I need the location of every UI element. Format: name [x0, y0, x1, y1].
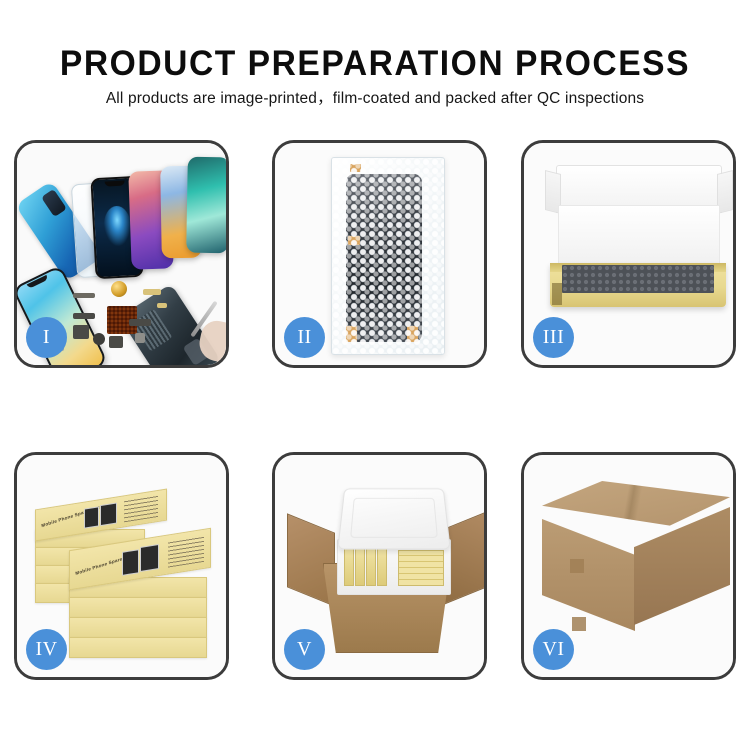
product-preparation-infographic: PRODUCT PREPARATION PROCESS All products…: [0, 0, 750, 750]
step-badge: IV: [26, 629, 67, 670]
process-step-grid: I II: [0, 0, 750, 750]
vibration-motor-part: [111, 281, 127, 297]
process-step-5: V: [272, 452, 487, 680]
carton-label-patch-bottom: [572, 617, 586, 631]
box-screen-image-a: [84, 506, 99, 528]
step-badge: V: [284, 629, 325, 670]
camera-module-part: [73, 325, 89, 339]
speaker-part: [73, 293, 95, 298]
process-step-3: III: [521, 140, 736, 368]
step-badge: III: [533, 317, 574, 358]
bubble-texture-overlay: [332, 158, 444, 354]
phone-teal: [186, 157, 226, 254]
process-step-2: II: [272, 140, 487, 368]
box-spec-lines: [168, 536, 204, 568]
bubble-wrap-bag: [331, 157, 445, 355]
bracket-part: [109, 336, 123, 348]
step-badge: VI: [533, 629, 574, 670]
box-spec-lines: [124, 495, 158, 522]
box-screen-image-b: [140, 544, 159, 572]
box-screen-image-a: [122, 549, 139, 576]
small-connector-part: [157, 303, 167, 308]
process-step-1: I: [14, 140, 229, 368]
flex-connector-part: [143, 289, 161, 295]
carton-left-face: [542, 519, 635, 631]
box-screen-image-b: [100, 502, 117, 526]
flex-cable-part: [73, 313, 95, 319]
carton-right-face: [634, 507, 730, 625]
white-foam-sheet: [558, 205, 720, 269]
carton-label-patch-top: [570, 559, 584, 573]
step-badge: I: [26, 317, 67, 358]
sim-tray-part: [135, 333, 145, 343]
step-badge: II: [284, 317, 325, 358]
grey-bubble-sheet: [562, 265, 714, 293]
packed-retail-boxes: [398, 550, 444, 586]
process-step-4: Mobile Phone Spare Parts Mobile Phone Sp…: [14, 452, 229, 680]
process-step-6: VI: [521, 452, 736, 680]
styrofoam-lid: [337, 488, 450, 549]
ribbon-cable-part: [129, 319, 151, 326]
earpiece-part: [93, 333, 105, 345]
